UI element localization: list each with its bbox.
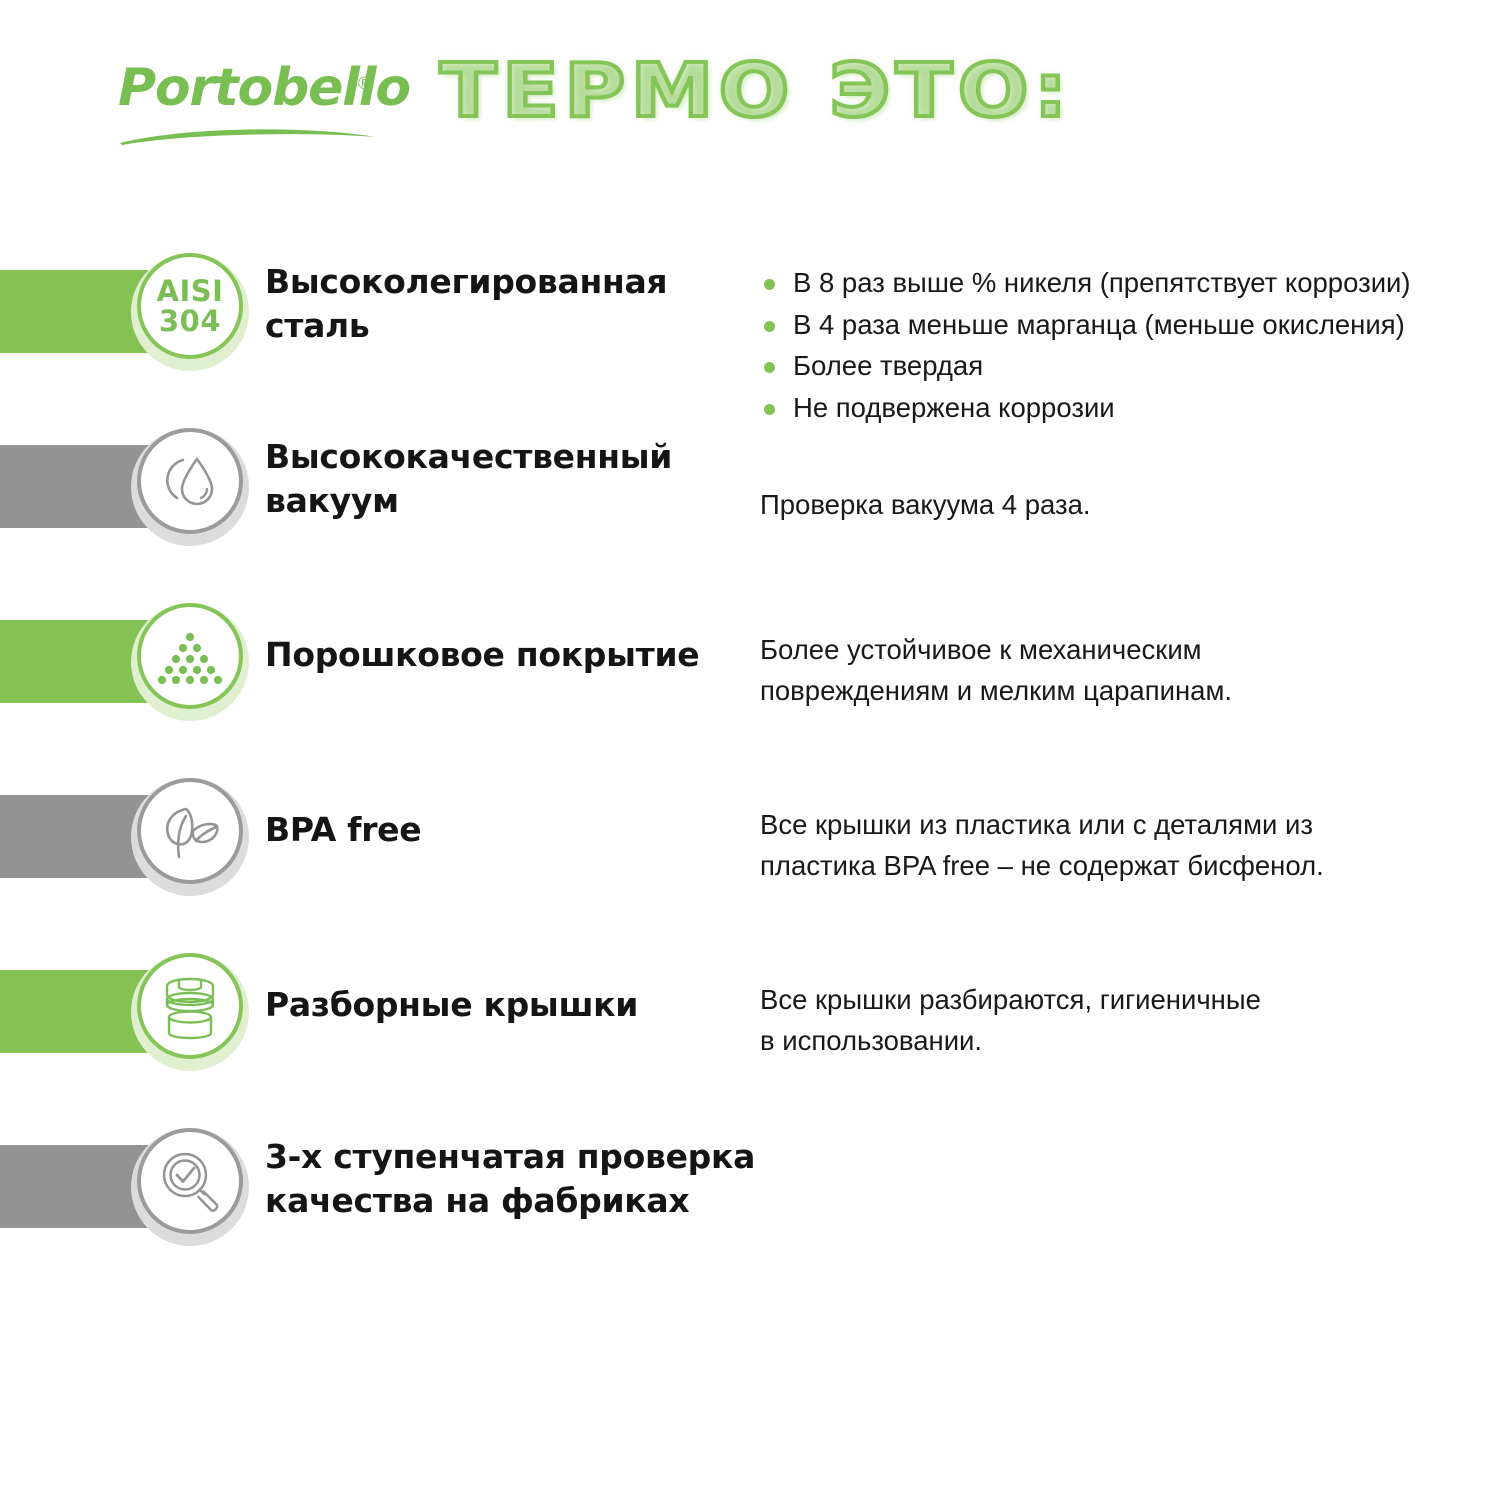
magnifier-check-icon: [137, 1128, 243, 1234]
feature-badge: [131, 953, 249, 1071]
list-item-label: Не подвержена коррозии: [793, 392, 1115, 423]
feature-badge: AISI 304: [131, 253, 249, 371]
bullet-dot-icon: [764, 404, 775, 415]
feature-badge: [131, 778, 249, 896]
bullet-dot-icon: [764, 279, 775, 290]
aisi-304-badge-icon: AISI 304: [137, 253, 243, 359]
steel-bullet-list: В 8 раз выше % никеля (препятствует корр…: [760, 262, 1411, 428]
registered-trademark-icon: ®: [356, 74, 373, 94]
portobello-logo: Portobello ®: [118, 58, 388, 148]
row-title: Разборные крышки: [265, 983, 638, 1027]
row-title: 3-х ступенчатая проверка качества на фаб…: [265, 1135, 755, 1223]
powder-dots-icon: [137, 603, 243, 709]
infographic-page: Portobello ® ТЕРМО ЭТО: AISI 304 Высокол…: [0, 0, 1500, 1500]
list-item-label: В 4 раза меньше марганца (меньше окислен…: [793, 309, 1405, 340]
list-item-label: Более твердая: [793, 350, 983, 381]
row-title: BPA free: [265, 808, 421, 852]
feature-badge: [131, 428, 249, 546]
row-title: Высоколегированная сталь: [265, 260, 667, 348]
row-body-text: Более устойчивое к механическим поврежде…: [760, 629, 1232, 711]
feature-badge: [131, 1128, 249, 1246]
bullet-dot-icon: [764, 321, 775, 332]
row-title: Высококачественный вакуум: [265, 435, 672, 523]
detachable-lid-icon: [137, 953, 243, 1059]
bullet-dot-icon: [764, 362, 775, 373]
water-drop-icon: [137, 428, 243, 534]
list-item: В 8 раз выше % никеля (препятствует корр…: [760, 262, 1411, 304]
list-item-label: В 8 раз выше % никеля (препятствует корр…: [793, 267, 1411, 298]
list-item: Не подвержена коррозии: [760, 387, 1411, 429]
row-body-text: Все крышки из пластика или с деталями из…: [760, 804, 1324, 886]
page-header: Portobello ® ТЕРМО ЭТО:: [0, 0, 1500, 200]
badge-code-label: AISI 304: [141, 276, 239, 336]
page-title: ТЕРМО ЭТО:: [440, 48, 1073, 134]
feature-badge: [131, 603, 249, 721]
list-item: Более твердая: [760, 345, 1411, 387]
row-title: Порошковое покрытие: [265, 633, 699, 677]
row-body-text: Все крышки разбираются, гигиеничные в ис…: [760, 979, 1261, 1061]
brand-swoosh-icon: [120, 124, 378, 146]
leaves-icon: [137, 778, 243, 884]
row-body-text: Проверка вакуума 4 раза.: [760, 484, 1091, 525]
list-item: В 4 раза меньше марганца (меньше окислен…: [760, 304, 1411, 346]
